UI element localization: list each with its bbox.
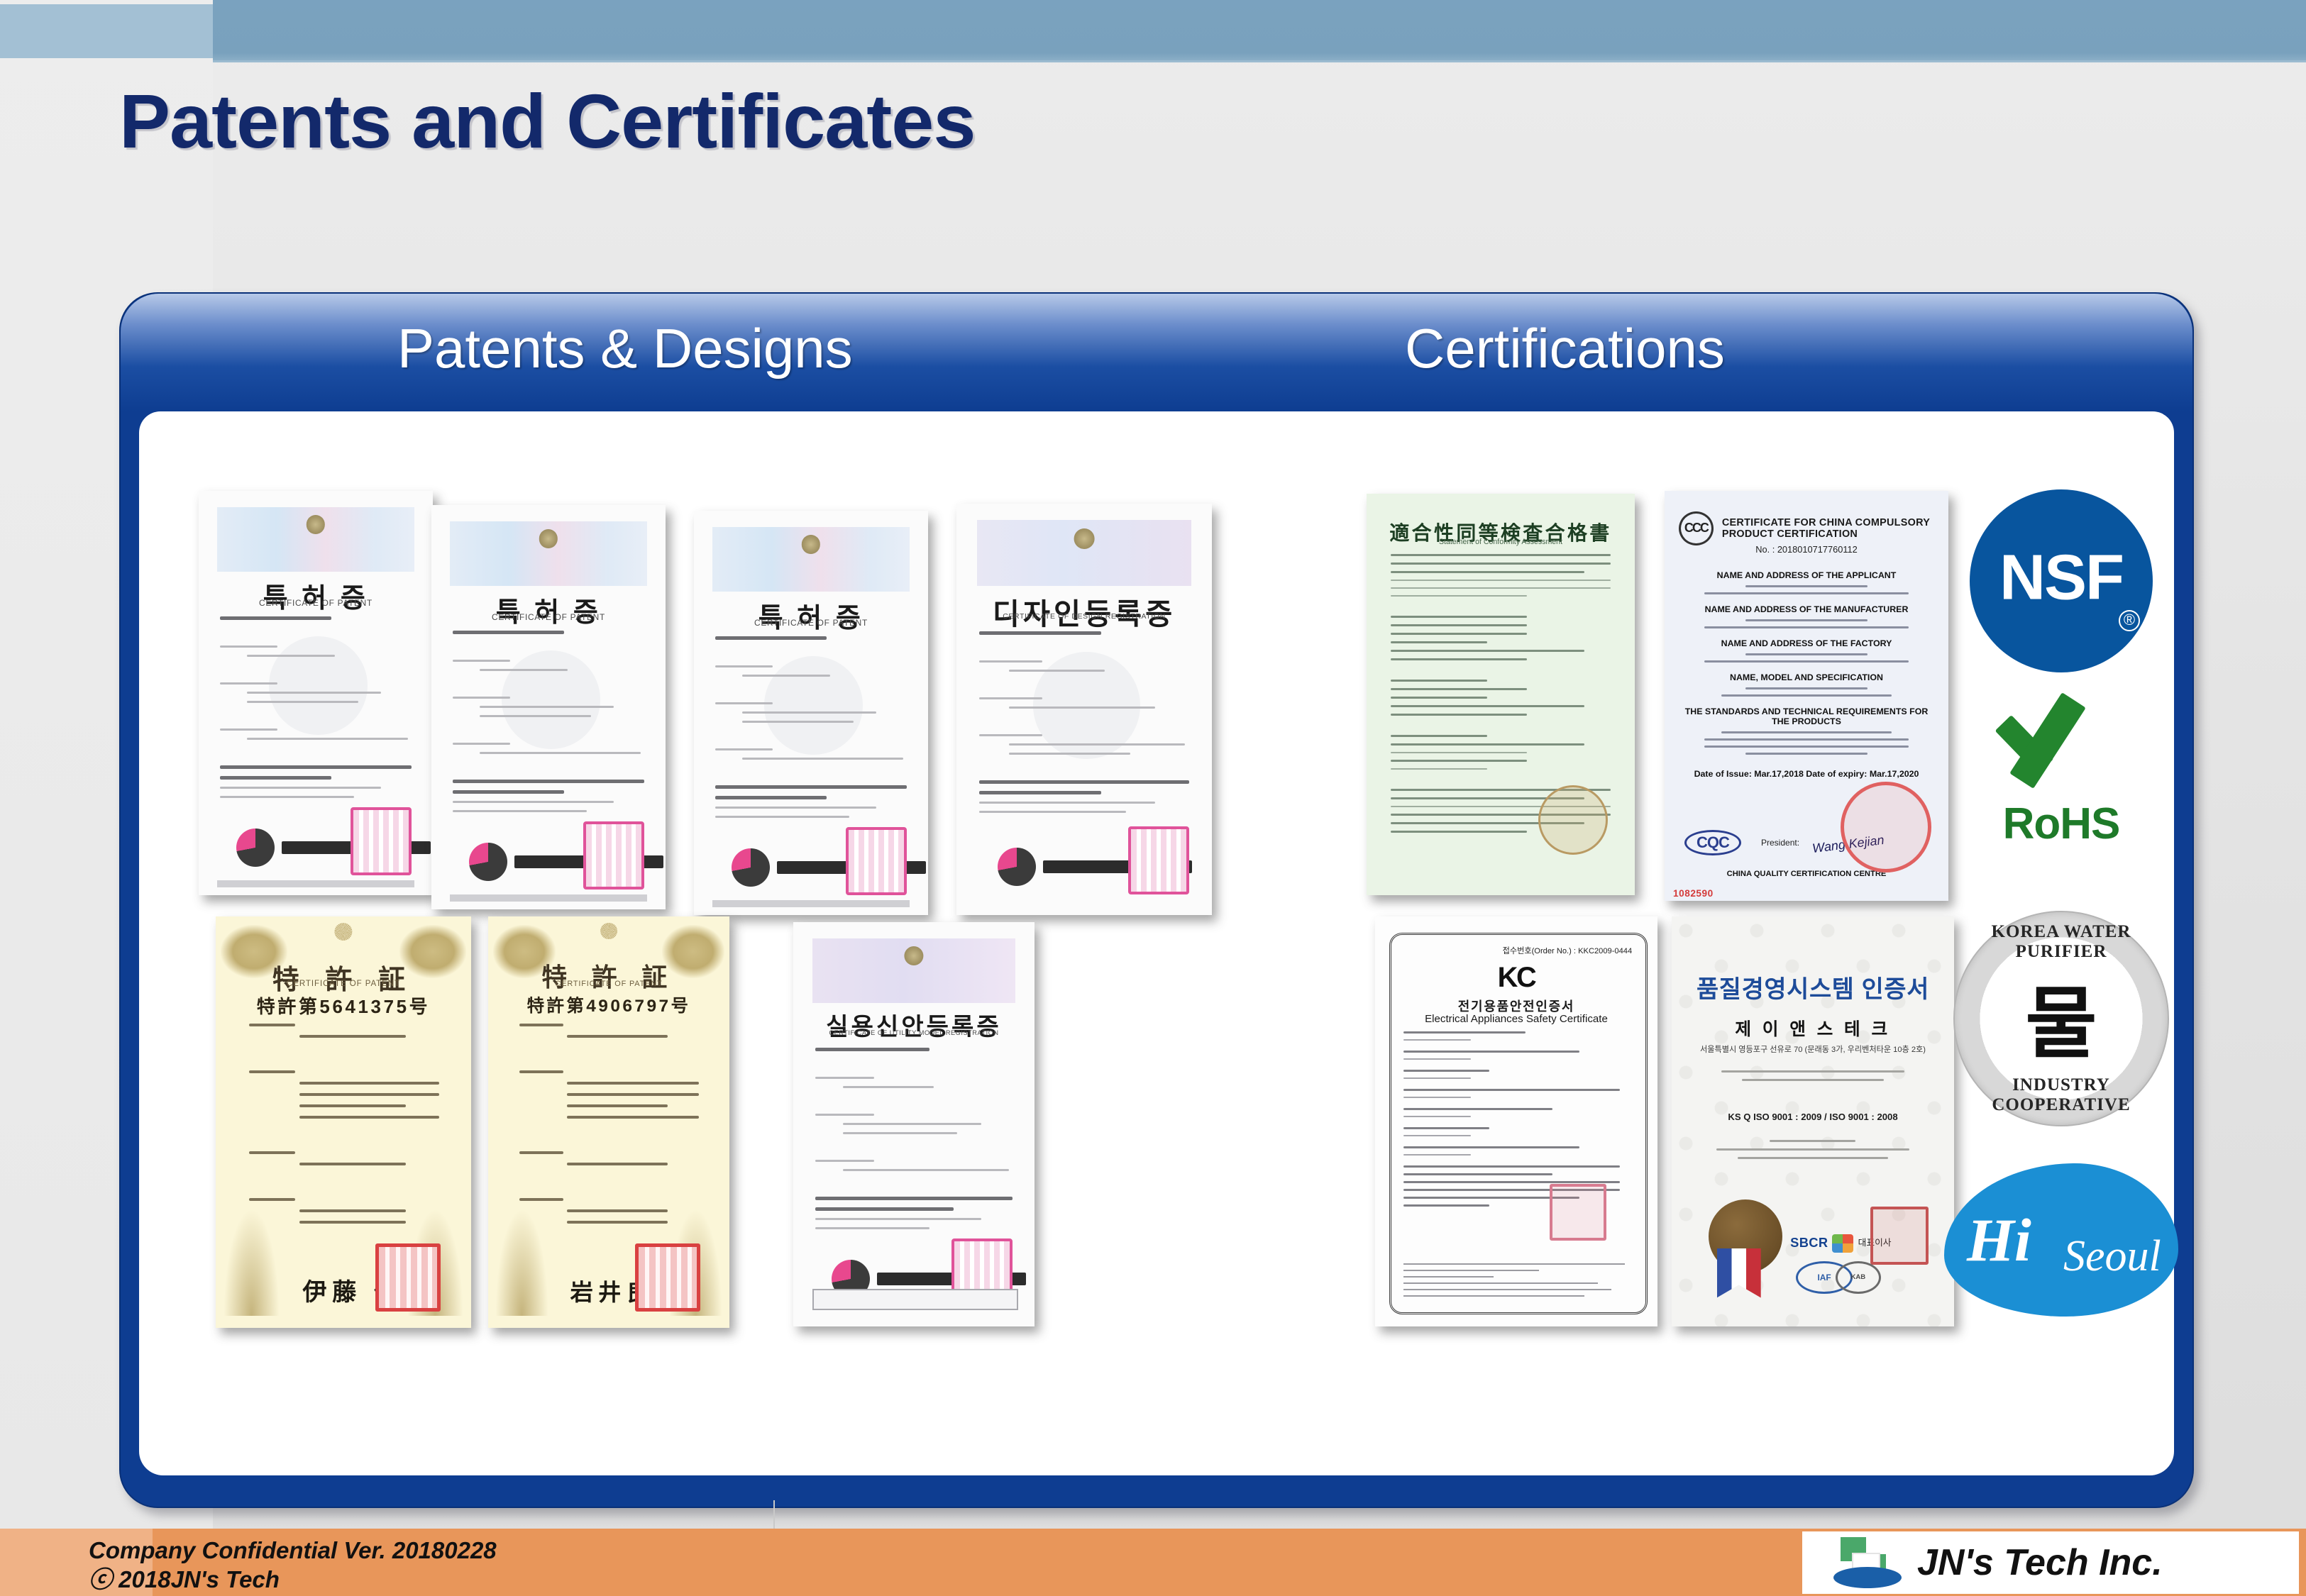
top-banner-right-segment bbox=[213, 0, 2306, 62]
kipo-logo-icon bbox=[236, 829, 275, 867]
certificate-title-ko: 디자인등록증 bbox=[956, 590, 1212, 633]
certificate-footnote bbox=[1403, 1263, 1629, 1302]
kc-order-number: 접수번호(Order No.) : KKC2009-0444 bbox=[1503, 945, 1633, 956]
chrysanthemum-crest-icon bbox=[600, 923, 617, 940]
certificate-body-lines bbox=[815, 1048, 1013, 1258]
company-logo: JN's Tech Inc. bbox=[1802, 1531, 2299, 1594]
certificate-card[interactable]: 特 許 証 CERTIFICATE OF PATENT 特許第5641375号 … bbox=[216, 916, 471, 1328]
company-brand-name: JN's Tech Inc. bbox=[1917, 1541, 2163, 1584]
official-stamp-icon bbox=[351, 807, 412, 875]
official-stamp-icon bbox=[1550, 1184, 1606, 1241]
korea-water-purifier-cooperative-logo: KOREA WATER PURIFIER 물 INDUSTRY COOPERAT… bbox=[1944, 911, 2178, 1145]
official-stamp-icon bbox=[635, 1243, 700, 1312]
content-panel: Patents & Designs Certifications 특 허 증 C… bbox=[119, 292, 2194, 1508]
slide-canvas: Patents and Certificates Patents & Desig… bbox=[0, 0, 2306, 1596]
certificate-footnote bbox=[217, 880, 414, 887]
seal-ring-icon: KOREA WATER PURIFIER 물 INDUSTRY COOPERAT… bbox=[1953, 911, 2169, 1126]
top-banner-left-segment bbox=[0, 4, 213, 58]
hi-seoul-blob-icon: Hi Seoul bbox=[1944, 1163, 2178, 1317]
certificate-card[interactable]: 실용신안등록증 CERTIFICATE OF UTILITY MODEL REG… bbox=[793, 922, 1035, 1326]
kc-logo-icon: KC bbox=[1498, 962, 1535, 994]
ccc-dates: Date of Issue: Mar.17,2018 Date of expir… bbox=[1684, 769, 1929, 779]
certificate-card[interactable]: CCC CERTIFICATE FOR CHINA COMPULSORY PRO… bbox=[1665, 491, 1948, 901]
nsf-logo: NSF ® bbox=[1944, 489, 2178, 674]
certificate-title-ko: 특 허 증 bbox=[431, 590, 666, 629]
kab-logo-icon: KAB bbox=[1836, 1261, 1881, 1294]
iso-company-address: 서울특별시 영등포구 선유로 70 (문래동 3가, 우리벤처타운 10층 2호… bbox=[1672, 1043, 1954, 1055]
certification-logo-column: NSF ® RoHS KOREA WATER PURIFIER 물 INDUST… bbox=[1944, 489, 2178, 1397]
water-character-label: 물 bbox=[1955, 960, 2168, 1073]
panel-header-patents: Patents & Designs bbox=[397, 316, 853, 381]
certificate-card[interactable]: 특 허 증 CERTIFICATE OF PATENT bbox=[199, 491, 433, 895]
kipo-logo-icon bbox=[469, 843, 507, 881]
rohs-logo: RoHS bbox=[1944, 687, 2178, 892]
certificate-title-en: CERTIFICATE OF DESIGN REGISTRATION bbox=[956, 613, 1212, 621]
official-stamp-icon bbox=[1870, 1207, 1929, 1265]
footer-confidential-line: Company Confidential Ver. 20180228 bbox=[89, 1536, 497, 1565]
certificate-title-ko: 특 허 증 bbox=[199, 576, 433, 615]
ccc-section-heading: NAME, MODEL AND SPECIFICATION bbox=[1684, 672, 1929, 682]
certificate-title-ja: 特 許 証 bbox=[216, 958, 471, 997]
certificate-title-en: CERTIFICATE OF PATENT bbox=[216, 980, 471, 988]
official-stamp-icon bbox=[375, 1243, 441, 1312]
footer-text: Company Confidential Ver. 20180228 ⓒ 201… bbox=[89, 1536, 497, 1594]
ccc-section-heading: NAME AND ADDRESS OF THE MANUFACTURER bbox=[1684, 604, 1929, 614]
ccc-section-heading: THE STANDARDS AND TECHNICAL REQUIREMENTS… bbox=[1684, 706, 1929, 726]
certificate-card[interactable]: 特 許 証 CERTIFICATE OF PATENT 特許第4906797号 … bbox=[488, 916, 729, 1328]
certificate-card[interactable]: 適合性同等検査合格書 Statement of Conformity Asses… bbox=[1367, 494, 1635, 895]
official-stamp-icon bbox=[846, 827, 907, 895]
certificate-scope-lines bbox=[1706, 1134, 1920, 1165]
certificate-title-en: CERTIFICATE OF UTILITY MODEL REGISTRATIO… bbox=[793, 1029, 1035, 1036]
certificate-footnote bbox=[712, 900, 909, 907]
official-stamp-icon bbox=[1841, 782, 1931, 872]
kipo-logo-icon bbox=[998, 848, 1036, 886]
certificate-title-en: CERTIFICATE OF PATENT bbox=[694, 618, 928, 628]
ccc-section-heading: NAME AND ADDRESS OF THE FACTORY bbox=[1684, 638, 1929, 648]
logo-blue-ellipse bbox=[1833, 1567, 1902, 1588]
ccc-section-heading: NAME AND ADDRESS OF THE APPLICANT bbox=[1684, 570, 1929, 580]
certificate-title-en: Statement of Conformity Assessment bbox=[1367, 538, 1635, 546]
certificate-title-en: CERTIFICATE OF PATENT bbox=[488, 980, 729, 988]
certificate-title-ko: 실용신안등록증 bbox=[793, 1007, 1035, 1042]
certificate-footnote bbox=[450, 894, 646, 902]
kipo-emblem-icon bbox=[1074, 528, 1095, 549]
sbcr-label: SBCR bbox=[1790, 1235, 1828, 1250]
certificate-card[interactable]: 품질경영시스템 인증서 제 이 앤 스 테 크 서울특별시 영등포구 선유로 7… bbox=[1672, 916, 1954, 1326]
seal-arc-top-label: KOREA WATER PURIFIER bbox=[1955, 922, 2168, 962]
certificate-body-lines bbox=[715, 636, 907, 846]
nsf-circle-icon: NSF ® bbox=[1970, 489, 2153, 672]
hi-seoul-logo: Hi Seoul bbox=[1944, 1163, 2178, 1376]
chrysanthemum-crest-icon bbox=[334, 923, 352, 941]
certificate-title-en: CERTIFICATE OF PATENT bbox=[199, 598, 433, 608]
certificate-title-ko: 품질경영시스템 인증서 bbox=[1672, 970, 1954, 1004]
panel-header: Patents & Designs Certifications bbox=[121, 294, 2192, 411]
certificate-title-ja: 特 許 証 bbox=[488, 958, 729, 994]
rohs-label: RoHS bbox=[1944, 799, 2178, 849]
certificate-body-lines bbox=[220, 616, 412, 826]
sbcr-logo: SBCR bbox=[1790, 1234, 1853, 1253]
ccc-badge-icon: CCC bbox=[1679, 511, 1714, 545]
certificate-card[interactable]: 접수번호(Order No.) : KKC2009-0444 KC 전기용품안전… bbox=[1375, 916, 1657, 1326]
certificate-number: 特許第4906797号 bbox=[488, 992, 729, 1017]
jns-tech-mark-icon bbox=[1831, 1537, 1904, 1588]
ccc-header-row: CCC CERTIFICATE FOR CHINA COMPULSORY PRO… bbox=[1679, 511, 1934, 545]
certificate-card[interactable]: 특 허 증 CERTIFICATE OF PATENT bbox=[431, 505, 666, 909]
certificate-body-lines bbox=[453, 631, 645, 841]
seal-arc-bottom-label: INDUSTRY COOPERATIVE bbox=[1955, 1075, 2168, 1115]
iso-standard: KS Q ISO 9001 : 2009 / ISO 9001 : 2008 bbox=[1672, 1112, 1954, 1122]
ccc-issuer: CHINA QUALITY CERTIFICATION CENTRE bbox=[1665, 870, 1948, 878]
cqc-logo-icon: CQC bbox=[1684, 830, 1741, 855]
certificate-title-ko: 특 허 증 bbox=[694, 596, 928, 635]
nsf-label: NSF bbox=[1970, 541, 2153, 614]
checkmark-icon bbox=[1987, 687, 2136, 793]
certificate-footnote bbox=[812, 1289, 1018, 1310]
certificate-title-en: Electrical Appliances Safety Certificate bbox=[1375, 1013, 1657, 1025]
panel-header-certifications: Certifications bbox=[1405, 316, 1725, 381]
official-stamp-icon bbox=[583, 821, 644, 890]
certificate-card[interactable]: 디자인등록증 CERTIFICATE OF DESIGN REGISTRATIO… bbox=[956, 504, 1212, 915]
ccc-certificate-number: No. : 2018010717760112 bbox=[1665, 544, 1948, 555]
registered-trademark-icon: ® bbox=[2119, 610, 2140, 631]
iso-company-name: 제 이 앤 스 테 크 bbox=[1672, 1015, 1954, 1041]
certificate-body-lines bbox=[1711, 1064, 1915, 1087]
bamboo-ornament-icon bbox=[224, 1209, 280, 1316]
ccc-president-label: President: bbox=[1761, 838, 1799, 848]
official-seal-icon bbox=[1538, 785, 1608, 855]
bamboo-ornament-icon bbox=[495, 1209, 548, 1316]
certificate-card[interactable]: 특 허 증 CERTIFICATE OF PATENT bbox=[694, 511, 928, 915]
panel-body: 특 허 증 CERTIFICATE OF PATENT bbox=[139, 411, 2174, 1475]
certificate-body-lines bbox=[979, 631, 1188, 846]
sbcr-mark-icon bbox=[1832, 1234, 1853, 1253]
hi-seoul-hi-label: Hi bbox=[1967, 1204, 2031, 1275]
certificate-title-en: CERTIFICATE OF PATENT bbox=[431, 612, 666, 622]
kipo-logo-icon bbox=[732, 848, 770, 887]
certificate-number: 特許第5641375号 bbox=[216, 992, 471, 1019]
slide-footer: Company Confidential Ver. 20180228 ⓒ 201… bbox=[0, 1529, 2306, 1596]
ccc-heading: CERTIFICATE FOR CHINA COMPULSORY PRODUCT… bbox=[1722, 517, 1934, 540]
slide-divider bbox=[773, 1500, 775, 1529]
ccc-serial-number: 1082590 bbox=[1673, 888, 1714, 899]
official-stamp-icon bbox=[1128, 826, 1189, 894]
hi-seoul-seoul-label: Seoul bbox=[2063, 1231, 2161, 1282]
top-banner bbox=[0, 0, 2306, 62]
certificate-body-lines bbox=[519, 1024, 702, 1221]
certificate-title-ko: 전기용품안전인증서 bbox=[1375, 997, 1657, 1015]
ccc-body: NAME AND ADDRESS OF THE APPLICANT NAME A… bbox=[1684, 560, 1929, 814]
certificate-body-lines bbox=[249, 1024, 443, 1221]
page-title: Patents and Certificates bbox=[119, 77, 975, 165]
footer-copyright-line: ⓒ 2018JN's Tech bbox=[89, 1565, 497, 1594]
